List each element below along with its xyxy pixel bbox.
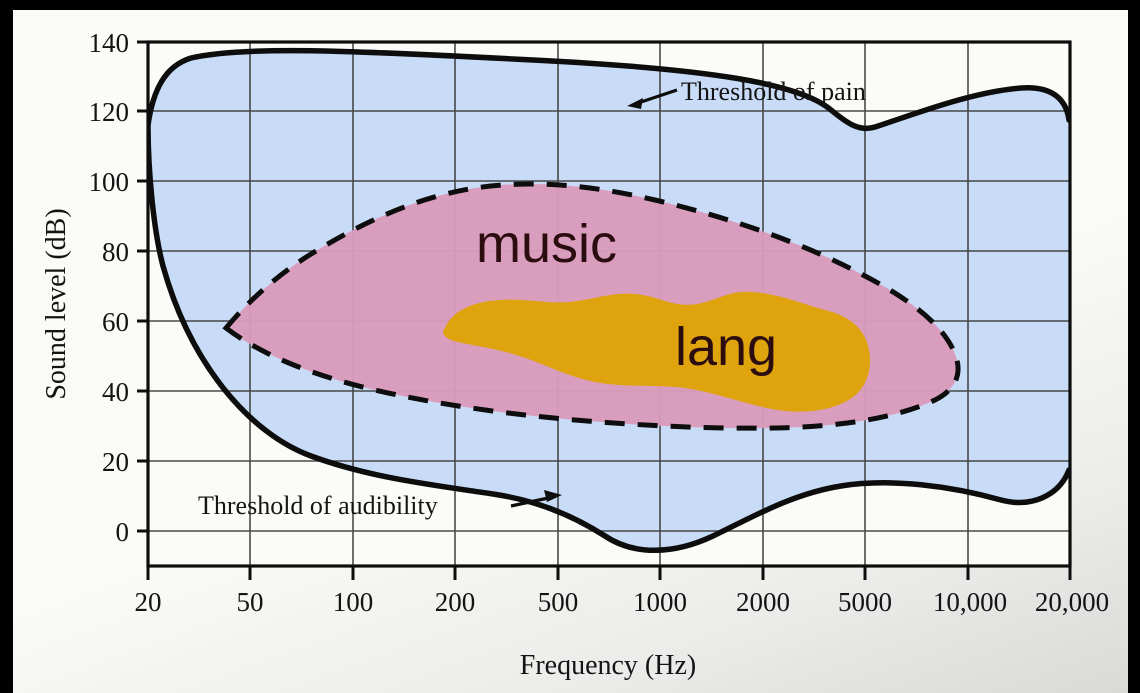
x-ticklabel-200: 200 — [435, 587, 476, 617]
annotation-pain-text: Threshold of pain — [681, 77, 866, 106]
y-tick-marks — [137, 42, 148, 531]
x-ticklabel-500: 500 — [538, 587, 579, 617]
x-ticklabel-2000: 2000 — [736, 587, 790, 617]
y-ticklabel-40: 40 — [102, 377, 129, 407]
x-ticklabel-50: 50 — [237, 587, 264, 617]
x-axis-title: Frequency (Hz) — [520, 650, 696, 681]
y-ticklabel-0: 0 — [116, 517, 130, 547]
annotation-audibility-text: Threshold of audibility — [198, 491, 438, 520]
y-ticklabel-100: 100 — [89, 167, 130, 197]
region-label-music: music — [476, 214, 617, 274]
figure-container: 140 120 100 80 60 40 20 0 20 50 100 200 … — [0, 0, 1140, 693]
y-ticklabel-20: 20 — [102, 447, 129, 477]
x-tick-labels: 20 50 100 200 500 1000 2000 5000 10,000 … — [135, 587, 1110, 617]
x-ticklabel-100: 100 — [333, 587, 374, 617]
x-ticklabel-10000: 10,000 — [933, 587, 1007, 617]
x-ticklabel-5000: 5000 — [838, 587, 892, 617]
y-ticklabel-120: 120 — [89, 97, 130, 127]
y-ticklabel-80: 80 — [102, 237, 129, 267]
x-tick-marks — [148, 566, 1070, 580]
y-tick-labels: 140 120 100 80 60 40 20 0 — [89, 28, 130, 547]
x-ticklabel-1000: 1000 — [633, 587, 687, 617]
y-ticklabel-60: 60 — [102, 307, 129, 337]
region-label-lang: lang — [675, 317, 777, 377]
y-axis-title: Sound level (dB) — [41, 208, 72, 399]
figure-canvas: 140 120 100 80 60 40 20 0 20 50 100 200 … — [13, 10, 1128, 693]
y-ticklabel-140: 140 — [89, 28, 130, 58]
x-ticklabel-20000: 20,000 — [1035, 587, 1109, 617]
hearing-range-chart: 140 120 100 80 60 40 20 0 20 50 100 200 … — [13, 10, 1128, 693]
x-ticklabel-20: 20 — [135, 587, 162, 617]
